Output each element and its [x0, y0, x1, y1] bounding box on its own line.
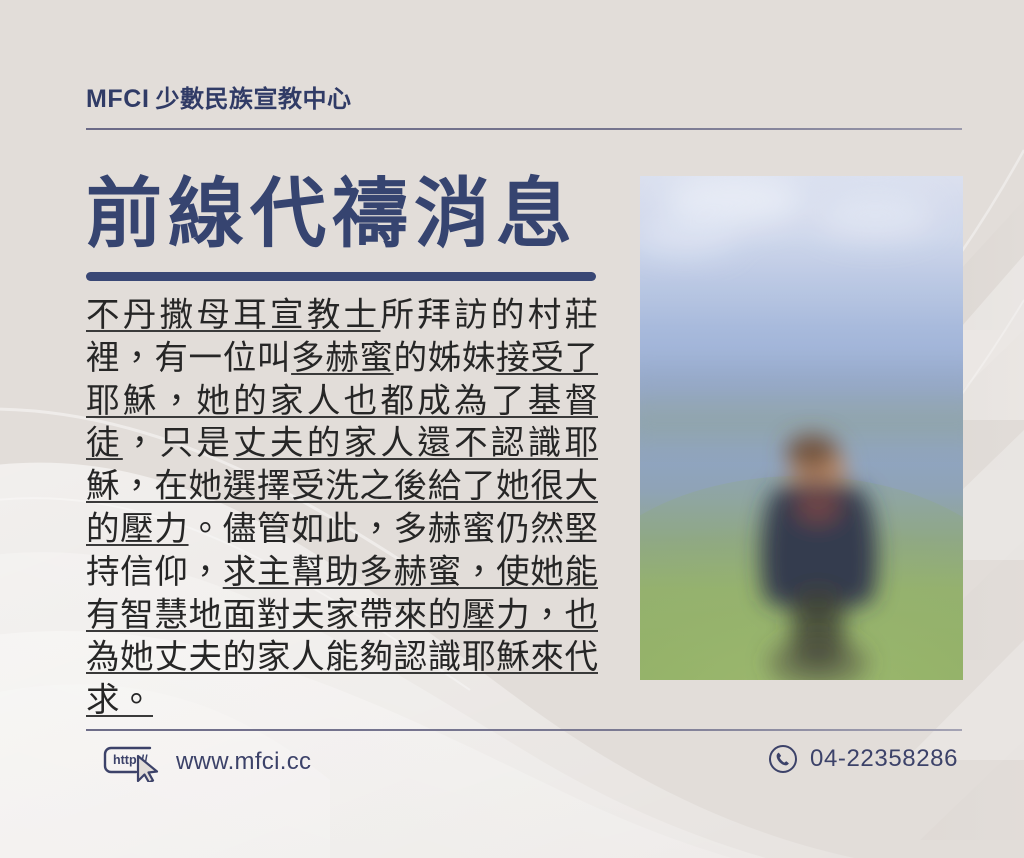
phone-info[interactable]: 04-22358286	[768, 744, 958, 774]
brand-cjk-text: 少數民族宣教中心	[156, 85, 352, 113]
header-divider	[86, 128, 962, 130]
page-title: 前線代禱消息	[86, 176, 578, 252]
website-link[interactable]: http:// www.mfci.cc	[100, 742, 311, 782]
body-segment: 的姊妹	[394, 338, 497, 377]
website-text: www.mfci.cc	[176, 748, 311, 776]
title-underline-bar	[86, 272, 596, 281]
phone-text: 04-22358286	[810, 745, 958, 773]
body-segment-emphasis: 不丹撒母耳宣教士	[86, 295, 380, 334]
brand-header: MFCI少數民族宣教中心	[86, 84, 962, 114]
phone-circle-icon	[768, 744, 798, 774]
mission-photo	[640, 176, 963, 680]
http-url-icon: http://	[100, 742, 162, 782]
blurred-photo-graphic	[640, 176, 963, 680]
brand-title: MFCI少數民族宣教中心	[86, 84, 962, 114]
prayer-news-poster: MFCI少數民族宣教中心 前線代禱消息 不丹撒母耳宣教士所拜訪的村莊裡，有一位叫…	[0, 0, 1024, 858]
prayer-body-text: 不丹撒母耳宣教士所拜訪的村莊裡，有一位叫多赫蜜的姊妹接受了耶穌，她的家人也都成為…	[86, 294, 598, 722]
footer-divider	[86, 729, 962, 731]
brand-latin-text: MFCI	[86, 85, 150, 113]
body-segment-emphasis: 多赫蜜	[291, 338, 394, 377]
body-segment: ，只是	[123, 423, 233, 462]
